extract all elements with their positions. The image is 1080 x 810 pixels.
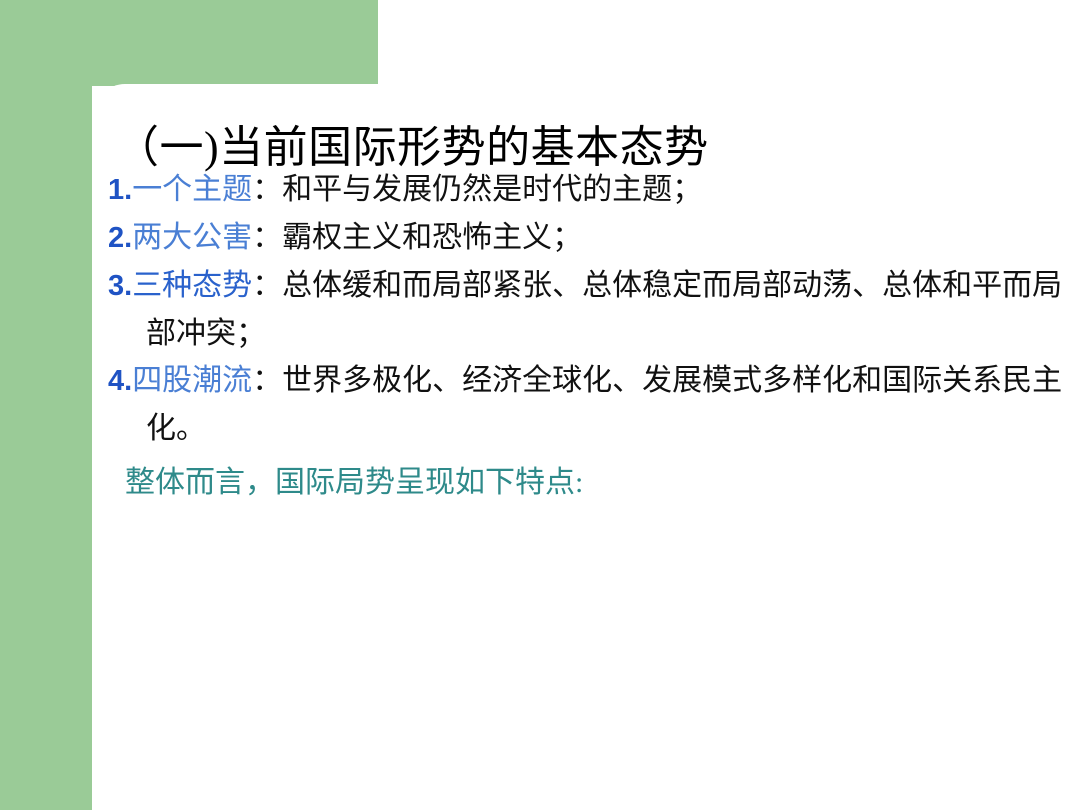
green-side-strip (0, 0, 92, 810)
list-item-keyword: 一个主题 (132, 173, 252, 206)
closing-statement: 整体而言，国际局势呈现如下特点: (125, 461, 583, 505)
list-item-keyword: 三种态势 (132, 269, 252, 302)
list-item-number: 2. (108, 222, 132, 254)
list-item-text: ：世界多极化、经济全球化、发展模式多样化和国际关系民主化。 (146, 364, 1062, 445)
list-item-number: 3. (108, 270, 132, 302)
list-item-keyword: 四股潮流 (132, 364, 252, 397)
bullet-list: 1.一个主题：和平与发展仍然是时代的主题； 2.两大公害：霸权主义和恐怖主义； … (108, 166, 1068, 452)
list-item-text: ：和平与发展仍然是时代的主题； (252, 173, 702, 206)
list-item-text: ：总体缓和而局部紧张、总体稳定而局部动荡、总体和平而局部冲突； (146, 269, 1062, 350)
list-item-number: 4. (108, 365, 132, 397)
list-item: 1.一个主题：和平与发展仍然是时代的主题； (108, 166, 1068, 214)
list-item: 3.三种态势：总体缓和而局部紧张、总体稳定而局部动荡、总体和平而局部冲突； (108, 262, 1068, 357)
list-item-keyword: 两大公害 (132, 221, 252, 254)
presentation-slide: （一)当前国际形势的基本态势 1.一个主题：和平与发展仍然是时代的主题； 2.两… (0, 0, 1080, 810)
list-item-number: 1. (108, 174, 132, 206)
list-item-text: ：霸权主义和恐怖主义； (252, 221, 582, 254)
list-item: 4.四股潮流：世界多极化、经济全球化、发展模式多样化和国际关系民主化。 (108, 357, 1068, 452)
list-item: 2.两大公害：霸权主义和恐怖主义； (108, 214, 1068, 262)
